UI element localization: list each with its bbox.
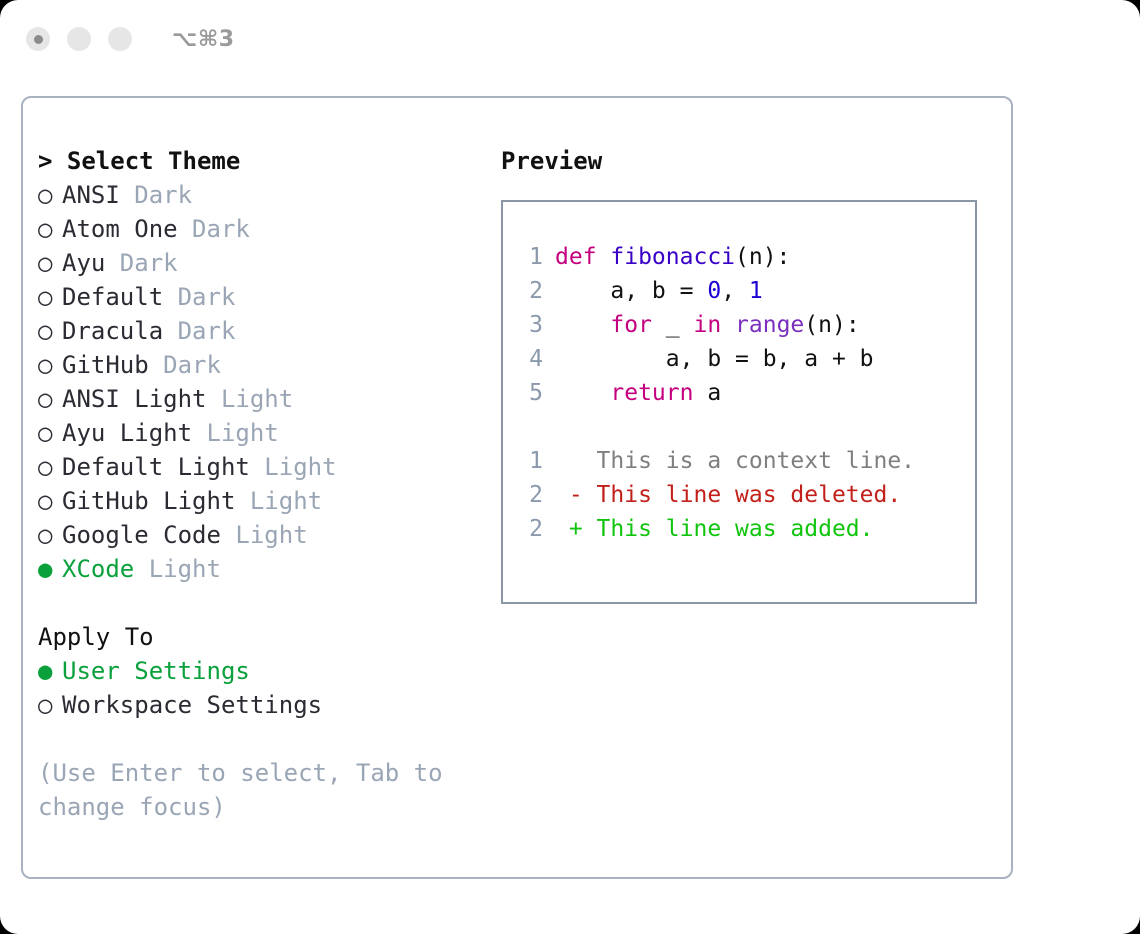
diff-line-text: This is a context line. [555, 448, 915, 474]
theme-option-tag: Dark [105, 249, 177, 277]
code-token: (n): [804, 312, 859, 338]
theme-option-list[interactable]: ○ANSI Dark○Atom One Dark○Ayu Dark○Defaul… [38, 178, 478, 586]
theme-option-label: Default Light [62, 453, 250, 481]
line-number: 1 [517, 240, 543, 274]
theme-option-default[interactable]: ○Default Dark [38, 280, 478, 314]
theme-option-label: Dracula [62, 317, 163, 345]
theme-option-tag: Dark [120, 181, 192, 209]
theme-option-label: Ayu [62, 249, 105, 277]
line-number: 2 [517, 512, 543, 546]
theme-option-tag: Light [134, 555, 221, 583]
code-line: 3 for _ in range(n): [517, 308, 975, 342]
theme-option-label: XCode [62, 555, 134, 583]
radio-unselected-icon[interactable]: ○ [38, 484, 62, 518]
apply-to-option-user-settings[interactable]: ●User Settings [38, 654, 478, 688]
line-number: 2 [517, 478, 543, 512]
theme-option-atom-one[interactable]: ○Atom One Dark [38, 212, 478, 246]
code-token: return [610, 380, 693, 406]
radio-unselected-icon[interactable]: ○ [38, 212, 62, 246]
maximize-button-dot[interactable] [108, 27, 132, 51]
line-number: 5 [517, 376, 543, 410]
line-number: 1 [517, 444, 543, 478]
radio-selected-icon[interactable]: ● [38, 552, 62, 586]
keyboard-shortcut-label: ⌥⌘3 [172, 27, 235, 52]
code-line: 4 a, b = b, a + b [517, 342, 975, 376]
theme-option-label: GitHub [62, 351, 149, 379]
apply-to-option-workspace-settings[interactable]: ○Workspace Settings [38, 688, 478, 722]
theme-option-google-code[interactable]: ○Google Code Light [38, 518, 478, 552]
code-token: range [735, 312, 804, 338]
theme-option-tag: Light [221, 521, 308, 549]
list-spacer [38, 586, 478, 620]
line-number: 3 [517, 308, 543, 342]
radio-unselected-icon[interactable]: ○ [38, 314, 62, 348]
theme-option-ansi-light[interactable]: ○ANSI Light Light [38, 382, 478, 416]
select-theme-header: > Select Theme [38, 144, 478, 178]
diff-line: 2 + This line was added. [517, 512, 975, 546]
theme-option-tag: Dark [149, 351, 221, 379]
code-token: , [721, 278, 749, 304]
theme-option-xcode[interactable]: ●XCode Light [38, 552, 478, 586]
theme-option-tag: Light [250, 453, 337, 481]
preview-gap [517, 410, 975, 444]
line-number: 2 [517, 274, 543, 308]
code-token: fibonacci [610, 244, 735, 270]
theme-option-ansi[interactable]: ○ANSI Dark [38, 178, 478, 212]
apply-to-header: Apply To [38, 620, 478, 654]
theme-option-github[interactable]: ○GitHub Dark [38, 348, 478, 382]
theme-option-label: Default [62, 283, 163, 311]
active-indicator-dot [34, 35, 43, 44]
code-line: 5 return a [517, 376, 975, 410]
apply-to-option-list[interactable]: ●User Settings○Workspace Settings [38, 654, 478, 722]
code-token [721, 312, 735, 338]
app-window: ⌥⌘3 > Select Theme ○ANSI Dark○Atom One D… [0, 0, 1140, 934]
theme-option-tag: Dark [178, 215, 250, 243]
theme-option-default-light[interactable]: ○Default Light Light [38, 450, 478, 484]
theme-option-tag: Light [235, 487, 322, 515]
theme-option-github-light[interactable]: ○GitHub Light Light [38, 484, 478, 518]
code-token: in [693, 312, 721, 338]
theme-option-label: ANSI [62, 181, 120, 209]
code-token: a [693, 380, 721, 406]
radio-unselected-icon[interactable]: ○ [38, 246, 62, 280]
code-token: a, b = [555, 278, 707, 304]
diff-line-text: + This line was added. [555, 516, 874, 542]
title-bar: ⌥⌘3 [0, 0, 1140, 78]
radio-selected-icon[interactable]: ● [38, 654, 62, 688]
apply-to-option-label: Workspace Settings [62, 691, 322, 719]
radio-unselected-icon[interactable]: ○ [38, 280, 62, 314]
radio-unselected-icon[interactable]: ○ [38, 382, 62, 416]
code-token: 1 [749, 278, 763, 304]
radio-unselected-icon[interactable]: ○ [38, 450, 62, 484]
apply-to-option-label: User Settings [62, 657, 250, 685]
code-token: _ [652, 312, 694, 338]
diff-sample: 1 This is a context line.2 - This line w… [517, 444, 975, 546]
radio-unselected-icon[interactable]: ○ [38, 178, 62, 212]
diff-line: 1 This is a context line. [517, 444, 975, 478]
main-panel: > Select Theme ○ANSI Dark○Atom One Dark○… [21, 96, 1013, 879]
theme-option-ayu[interactable]: ○Ayu Dark [38, 246, 478, 280]
code-token: 0 [707, 278, 721, 304]
theme-option-ayu-light[interactable]: ○Ayu Light Light [38, 416, 478, 450]
radio-unselected-icon[interactable]: ○ [38, 348, 62, 382]
theme-selection-column: > Select Theme ○ANSI Dark○Atom One Dark○… [38, 144, 478, 824]
theme-option-label: GitHub Light [62, 487, 235, 515]
code-token [555, 312, 610, 338]
code-token: def [555, 244, 610, 270]
minimize-button-dot[interactable] [67, 27, 91, 51]
code-token: (n): [735, 244, 790, 270]
preview-box: 1def fibonacci(n):2 a, b = 0, 13 for _ i… [501, 200, 977, 604]
close-button-dot[interactable] [26, 27, 50, 51]
theme-option-dracula[interactable]: ○Dracula Dark [38, 314, 478, 348]
radio-unselected-icon[interactable]: ○ [38, 518, 62, 552]
theme-option-label: Google Code [62, 521, 221, 549]
radio-unselected-icon[interactable]: ○ [38, 688, 62, 722]
diff-line-text: - This line was deleted. [555, 482, 901, 508]
theme-option-tag: Light [192, 419, 279, 447]
theme-option-label: Ayu Light [62, 419, 192, 447]
code-line: 2 a, b = 0, 1 [517, 274, 975, 308]
code-line: 1def fibonacci(n): [517, 240, 975, 274]
panel-columns: > Select Theme ○ANSI Dark○Atom One Dark○… [23, 98, 1011, 877]
theme-option-label: ANSI Light [62, 385, 207, 413]
theme-option-tag: Dark [163, 283, 235, 311]
preview-column: Preview 1def fibonacci(n):2 a, b = 0, 13… [501, 144, 991, 604]
theme-option-tag: Dark [163, 317, 235, 345]
preview-title: Preview [501, 144, 991, 178]
line-number: 4 [517, 342, 543, 376]
code-token: for [610, 312, 652, 338]
radio-unselected-icon[interactable]: ○ [38, 416, 62, 450]
theme-option-tag: Light [207, 385, 294, 413]
code-token [555, 380, 610, 406]
code-token: a, b = b, a + b [555, 346, 874, 372]
help-text: (Use Enter to select, Tab to change focu… [38, 756, 448, 824]
code-sample: 1def fibonacci(n):2 a, b = 0, 13 for _ i… [517, 240, 975, 410]
theme-option-label: Atom One [62, 215, 178, 243]
diff-line: 2 - This line was deleted. [517, 478, 975, 512]
